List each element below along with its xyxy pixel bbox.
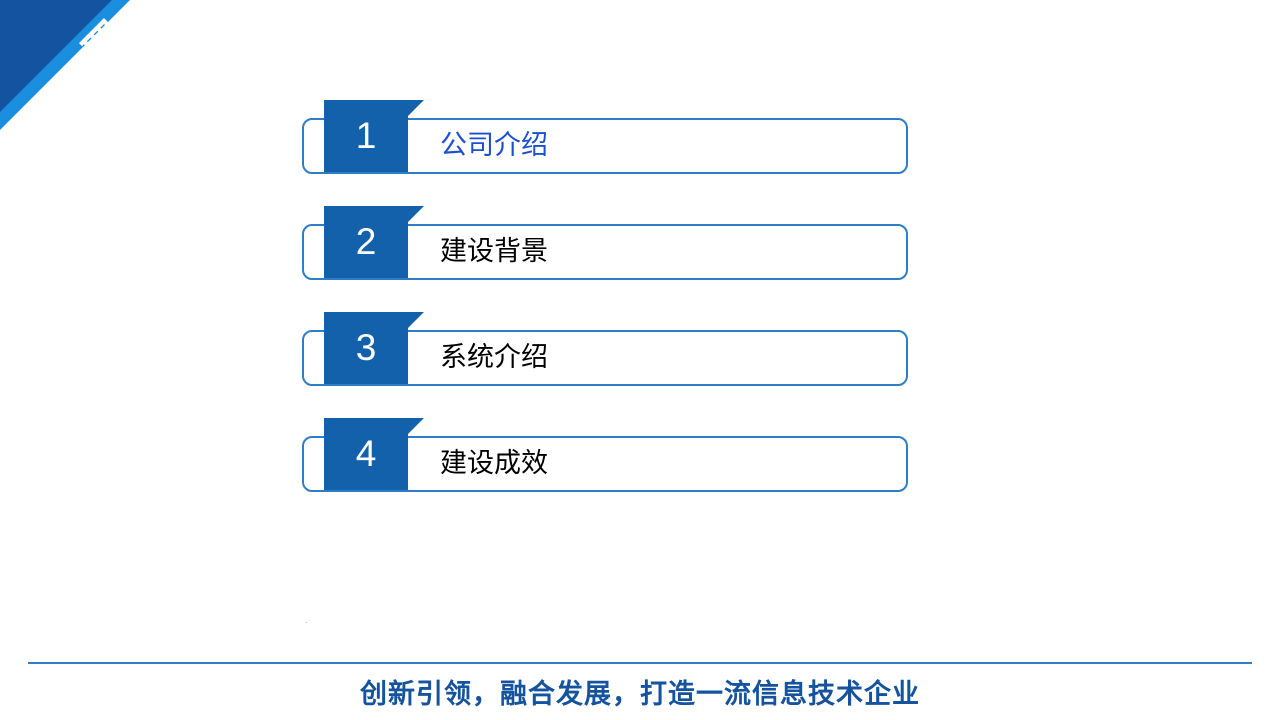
agenda-item-3[interactable]: 3 系统介绍 <box>302 312 912 390</box>
agenda-item-label: 建设成效 <box>440 436 548 492</box>
agenda-item-number: 4 <box>324 418 408 490</box>
agenda-item-label: 系统介绍 <box>440 330 548 386</box>
agenda-item-label: 建设背景 <box>440 224 548 280</box>
footer-divider <box>28 662 1252 664</box>
footer-slogan: 创新引领，融合发展，打造一流信息技术企业 <box>0 672 1280 711</box>
agenda-list: 1 公司介绍 2 建设背景 3 系统介绍 4 建设成效 <box>302 100 912 524</box>
small-dot-mark: . <box>305 618 311 624</box>
agenda-item-2[interactable]: 2 建设背景 <box>302 206 912 284</box>
agenda-item-label: 公司介绍 <box>440 118 548 174</box>
corner-ribbon: 目录 CONTENTS <box>0 0 300 135</box>
agenda-item-1[interactable]: 1 公司介绍 <box>302 100 912 178</box>
agenda-item-number: 3 <box>324 312 408 384</box>
agenda-item-number: 2 <box>324 206 408 278</box>
slide-canvas: 目录 CONTENTS 1 公司介绍 2 建设背景 3 系统介绍 4 建设成效 <box>0 0 1280 720</box>
agenda-item-4[interactable]: 4 建设成效 <box>302 418 912 496</box>
agenda-item-number: 1 <box>324 100 408 172</box>
